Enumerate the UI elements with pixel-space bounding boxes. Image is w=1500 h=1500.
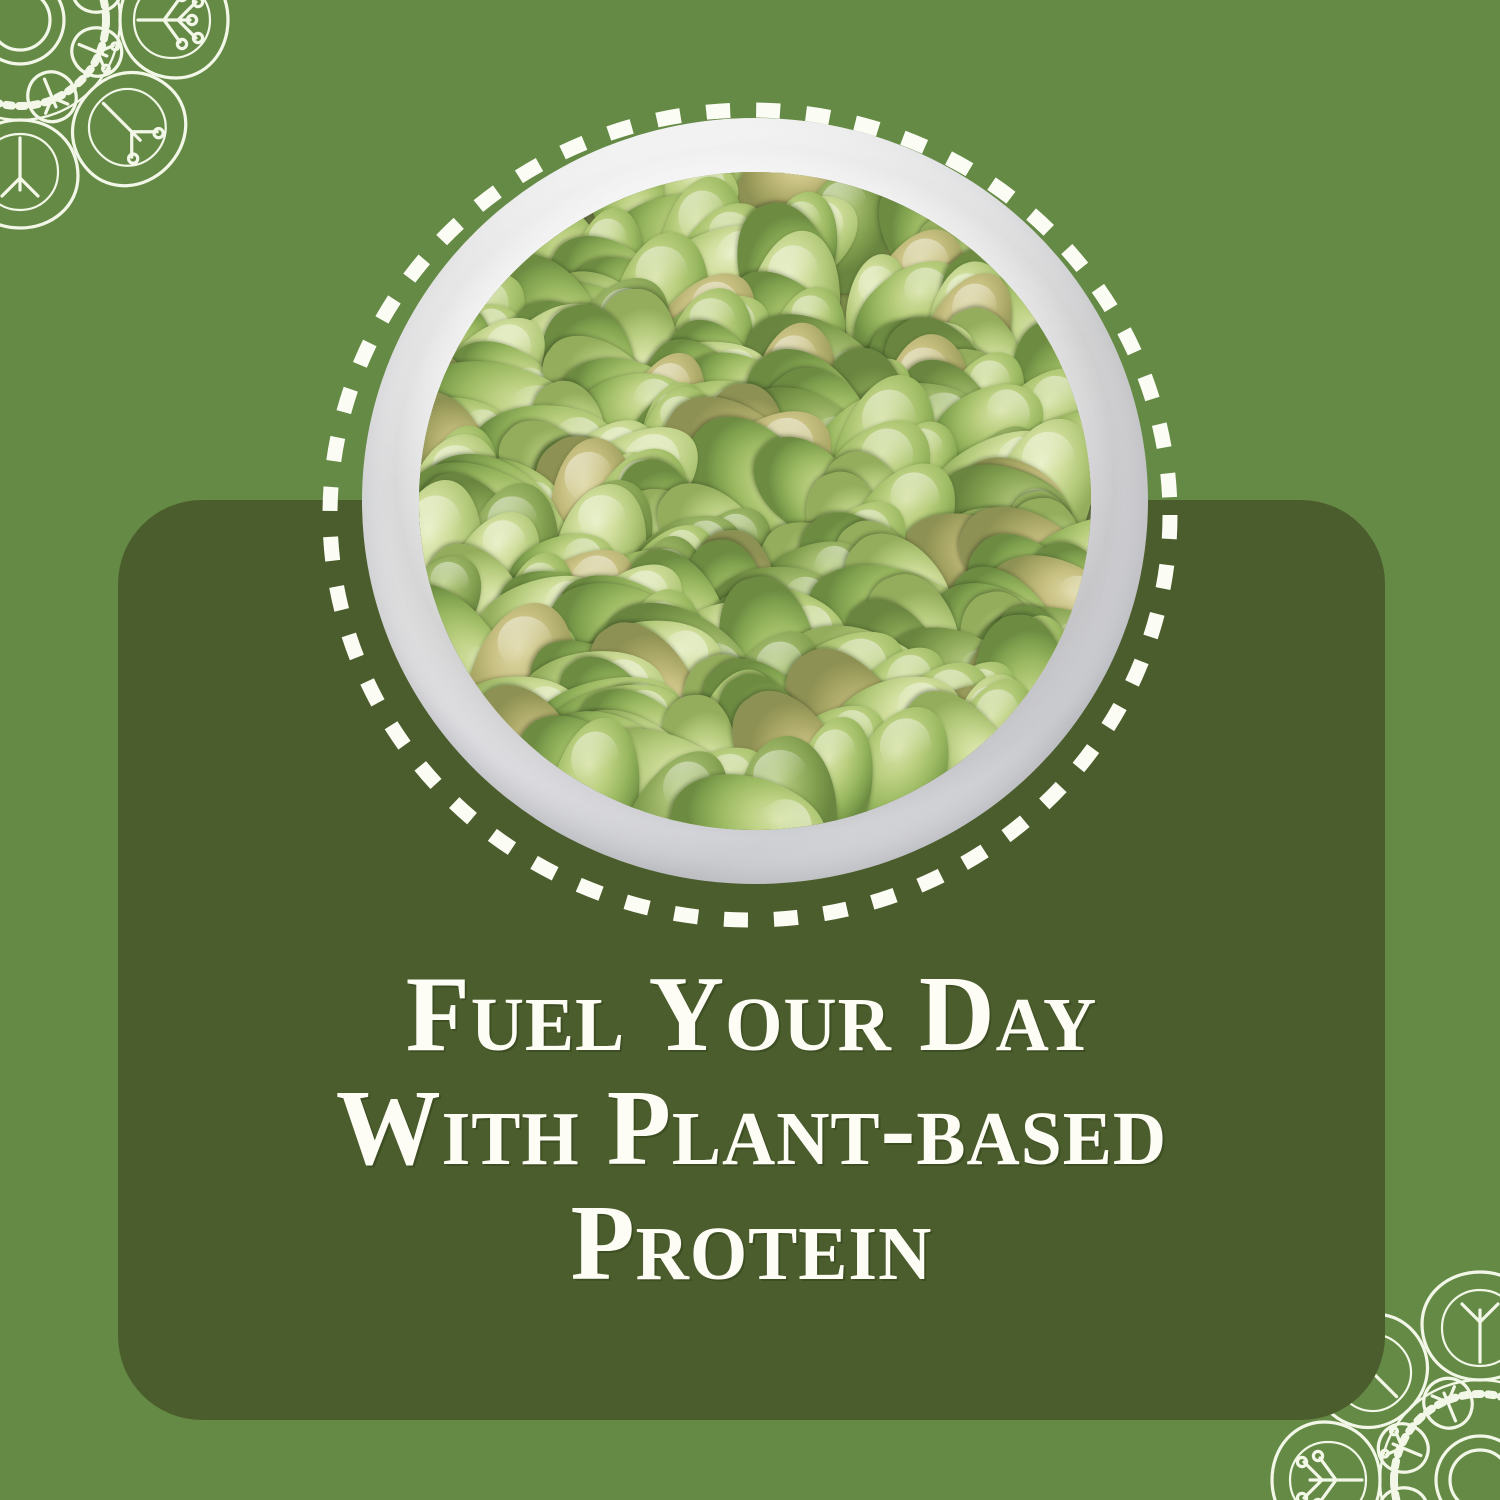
mandala-ornament-top-left (0, 0, 230, 230)
headline-line-2: With Plant-based (137, 1072, 1366, 1186)
poster-canvas: Fuel Your Day With Plant-based Protein (0, 0, 1500, 1500)
bowl-interior (419, 172, 1092, 831)
pumpkin-seed-field (419, 172, 1092, 831)
headline-line-1: Fuel Your Day (137, 958, 1366, 1072)
page-title: Fuel Your Day With Plant-based Protein (118, 958, 1385, 1301)
headline-line-3: Protein (137, 1187, 1366, 1301)
